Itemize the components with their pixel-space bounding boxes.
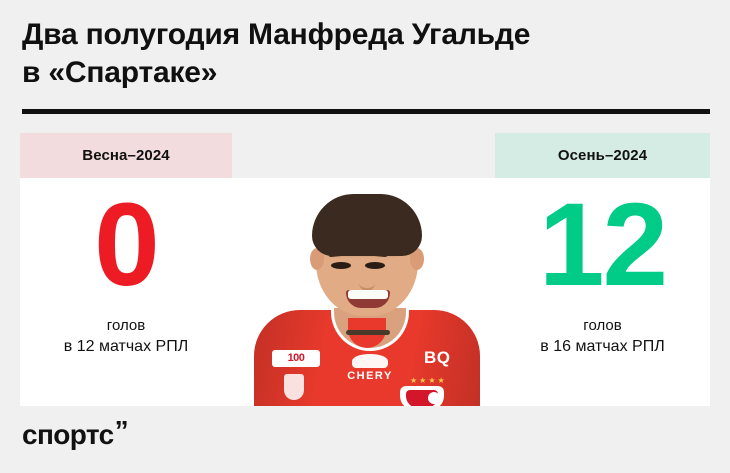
logo-quote-icon: ” (115, 421, 129, 441)
sponsor-chery-mark-icon (352, 354, 388, 368)
logo-wordmark: спортс (22, 421, 114, 449)
sponsor-logo-chery: CHERY (326, 370, 414, 382)
stat-spring-caption-2: в 12 матчах РПЛ (20, 336, 232, 358)
badge-spring-2024: Весна–2024 (20, 133, 232, 178)
stat-spring-goals-number: 0 (20, 186, 232, 314)
stat-autumn-caption-2: в 16 матчах РПЛ (495, 336, 710, 358)
portrait-eye-left (331, 262, 351, 269)
stat-spring-2024: 0 голов в 12 матчах РПЛ (20, 186, 232, 358)
page-title: Два полугодия Манфреда Угальде в «Спарта… (22, 16, 710, 92)
title-line-2: в «Спартаке» (22, 54, 710, 92)
sports-ru-logo[interactable]: спортс ” (22, 421, 129, 449)
portrait-nose (359, 272, 375, 291)
sponsor-logo-100: 100 (272, 350, 320, 367)
stat-autumn-caption-1: голов (495, 316, 710, 336)
badge-autumn-2024: Осень–2024 (495, 133, 710, 178)
portrait-sleeve-patch (284, 374, 304, 400)
stat-autumn-2024: 12 голов в 16 матчах РПЛ (495, 186, 710, 358)
infographic-root: Два полугодия Манфреда Угальде в «Спарта… (0, 0, 730, 473)
badge-autumn-label: Осень–2024 (558, 147, 647, 164)
jersey-stars: ★★★★ (410, 376, 447, 385)
portrait-eye-right (365, 262, 385, 269)
portrait-mouth (346, 290, 390, 308)
title-line-1: Два полугодия Манфреда Угальде (22, 16, 710, 54)
spartak-crest-ball-icon (428, 392, 440, 404)
sponsor-logo-bq: BQ (424, 348, 451, 368)
badge-spring-label: Весна–2024 (82, 147, 169, 164)
portrait-teeth (348, 290, 388, 299)
player-portrait-photo: 100 CHERY BQ ★★★★ (248, 178, 486, 406)
stat-spring-caption-1: голов (20, 316, 232, 336)
title-divider (22, 109, 710, 114)
stat-autumn-goals-number: 12 (495, 186, 710, 314)
